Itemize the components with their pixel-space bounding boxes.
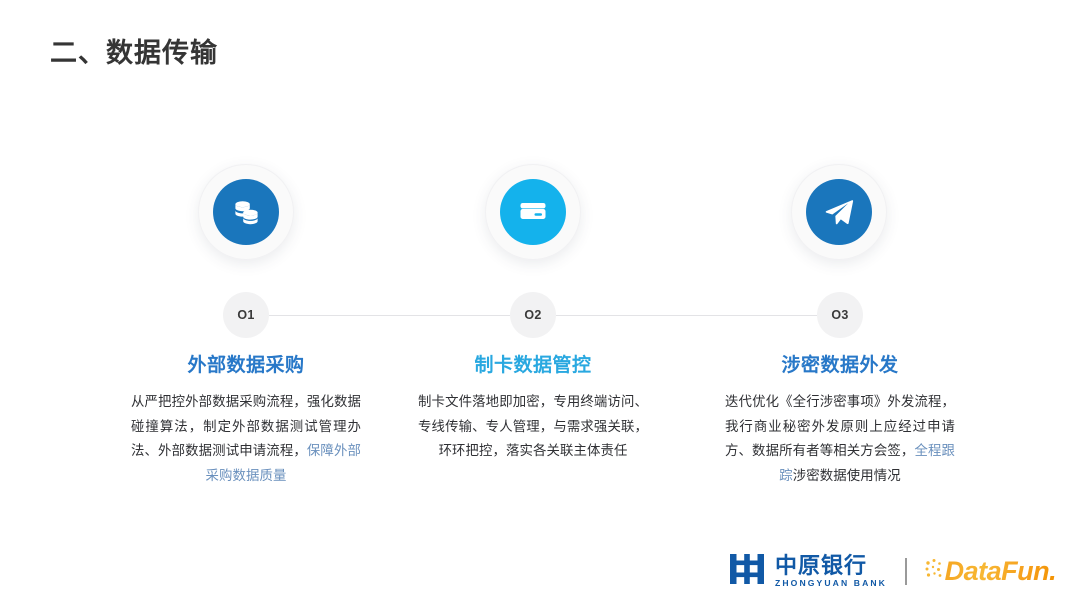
datafun-dots-icon xyxy=(924,556,944,587)
step-node-label-1: O1 xyxy=(237,308,254,322)
column-body-3: 迭代优化《全行涉密事项》外发流程，我行商业秘密外发原则上应经过申请方、数据所有者… xyxy=(725,390,955,488)
step-node-3[interactable]: O3 xyxy=(817,292,863,338)
timeline-connector-2 xyxy=(556,315,818,316)
column-heading-1: 外部数据采购 xyxy=(131,350,361,377)
icon-circle-3 xyxy=(806,179,872,245)
column-body-tail-3: 涉密数据使用情况 xyxy=(793,468,901,483)
icon-badge-step-3 xyxy=(791,164,887,260)
column-heading-3: 涉密数据外发 xyxy=(725,350,955,377)
step-node-1[interactable]: O1 xyxy=(223,292,269,338)
bank-name-en: ZHONGYUAN BANK xyxy=(775,578,887,589)
column-body-2: 制卡文件落地即加密，专用终端访问、专线传输、专人管理，与需求强关联，环环把控，落… xyxy=(418,390,648,464)
credit-card-icon xyxy=(515,194,551,230)
step-node-2[interactable]: O2 xyxy=(510,292,556,338)
datafun-logo: DataFun. xyxy=(924,556,1057,587)
timeline: O1 O2 O3 xyxy=(0,292,1080,340)
page-title: 二、数据传输 xyxy=(50,31,218,70)
step-node-label-2: O2 xyxy=(524,308,541,322)
content-column-3: 涉密数据外发 迭代优化《全行涉密事项》外发流程，我行商业秘密外发原则上应经过申请… xyxy=(725,350,955,488)
content-column-1: 外部数据采购 从严把控外部数据采购流程，强化数据碰撞算法，制定外部数据测试管理办… xyxy=(131,350,361,488)
icon-circle-1 xyxy=(213,179,279,245)
bank-logo-text: 中原银行 ZHONGYUAN BANK xyxy=(775,554,887,589)
content-column-2: 制卡数据管控 制卡文件落地即加密，专用终端访问、专线传输、专人管理，与需求强关联… xyxy=(418,350,648,464)
datafun-wordmark: DataFun. xyxy=(945,556,1057,586)
bank-emblem-icon xyxy=(728,551,766,592)
database-stack-icon xyxy=(229,195,263,229)
footer-logos: 中原银行 ZHONGYUAN BANK DataFun. xyxy=(728,549,1056,593)
column-heading-2: 制卡数据管控 xyxy=(418,350,648,377)
icon-badge-step-2 xyxy=(485,164,581,260)
footer-divider xyxy=(905,558,907,585)
column-body-1: 从严把控外部数据采购流程，强化数据碰撞算法，制定外部数据测试管理办法、外部数据测… xyxy=(131,390,361,488)
paper-plane-icon xyxy=(821,194,857,230)
icon-row xyxy=(0,155,1080,273)
step-node-label-3: O3 xyxy=(831,308,848,322)
icon-circle-2 xyxy=(500,179,566,245)
icon-badge-step-1 xyxy=(198,164,294,260)
timeline-connector-1 xyxy=(266,315,531,316)
column-body-text-2: 制卡文件落地即加密，专用终端访问、专线传输、专人管理，与需求强关联，环环把控，落… xyxy=(418,394,648,458)
zhongyuan-bank-logo: 中原银行 ZHONGYUAN BANK xyxy=(728,551,887,592)
bank-name-cn: 中原银行 xyxy=(775,554,887,577)
